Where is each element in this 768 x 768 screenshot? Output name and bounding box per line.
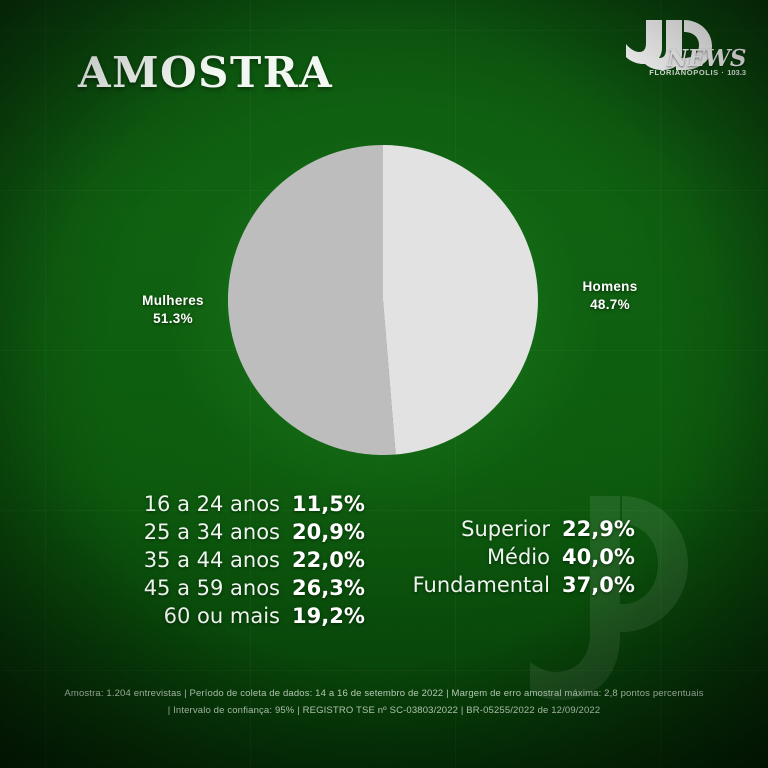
list-item: 45 a 59 anos 26,3% xyxy=(150,576,370,600)
age-group-value: 19,2% xyxy=(292,604,370,628)
list-item: 16 a 24 anos 11,5% xyxy=(150,492,370,516)
page-title: AMOSTRA xyxy=(78,48,333,97)
pie-label-mulheres-name: Mulheres xyxy=(108,292,238,310)
age-group-label: 35 a 44 anos xyxy=(144,548,280,572)
list-item: Médio 40,0% xyxy=(408,545,640,569)
pie-svg xyxy=(228,145,538,455)
age-group-value: 22,0% xyxy=(292,548,370,572)
footer-methodology: Amostra: 1.204 entrevistas | Período de … xyxy=(0,685,768,720)
pie-slice-homens xyxy=(383,145,538,454)
infographic-poster: AMOSTRA NEWS FLORIANÓPOLIS · 103.3 Mulhe… xyxy=(0,0,768,768)
age-group-stats: 16 a 24 anos 11,5% 25 a 34 anos 20,9% 35… xyxy=(150,492,370,632)
pie-label-homens-value: 48.7% xyxy=(545,296,675,314)
education-value: 22,9% xyxy=(562,517,640,541)
list-item: Superior 22,9% xyxy=(408,517,640,541)
education-stats: Superior 22,9% Médio 40,0% Fundamental 3… xyxy=(408,517,640,601)
logo-station-line: FLORIANÓPOLIS · 103.3 xyxy=(649,68,746,77)
logo-separator: · xyxy=(721,68,724,77)
pie-label-mulheres: Mulheres 51.3% xyxy=(108,292,238,328)
list-item: 35 a 44 anos 22,0% xyxy=(150,548,370,572)
gender-pie-chart xyxy=(228,145,538,455)
age-group-value: 11,5% xyxy=(292,492,370,516)
age-group-label: 60 ou mais xyxy=(164,604,280,628)
age-group-value: 26,3% xyxy=(292,576,370,600)
education-value: 40,0% xyxy=(562,545,640,569)
footer-line-1: Amostra: 1.204 entrevistas | Período de … xyxy=(0,685,768,703)
list-item: 25 a 34 anos 20,9% xyxy=(150,520,370,544)
education-value: 37,0% xyxy=(562,573,640,597)
footer-line-2: | Intervalo de confiança: 95% | REGISTRO… xyxy=(0,702,768,720)
age-group-label: 25 a 34 anos xyxy=(144,520,280,544)
age-group-label: 16 a 24 anos xyxy=(144,492,280,516)
logo-station-name: FLORIANÓPOLIS xyxy=(649,68,718,77)
list-item: 60 ou mais 19,2% xyxy=(150,604,370,628)
age-group-value: 20,9% xyxy=(292,520,370,544)
logo-frequency: 103.3 xyxy=(727,68,746,77)
age-group-label: 45 a 59 anos xyxy=(144,576,280,600)
brand-logo: NEWS FLORIANÓPOLIS · 103.3 xyxy=(626,18,754,82)
education-label: Superior xyxy=(461,517,550,541)
pie-label-homens: Homens 48.7% xyxy=(545,278,675,314)
pie-label-mulheres-value: 51.3% xyxy=(108,310,238,328)
education-label: Médio xyxy=(487,545,550,569)
list-item: Fundamental 37,0% xyxy=(408,573,640,597)
pie-slice-mulheres xyxy=(228,145,396,455)
education-label: Fundamental xyxy=(413,573,550,597)
pie-label-homens-name: Homens xyxy=(545,278,675,296)
